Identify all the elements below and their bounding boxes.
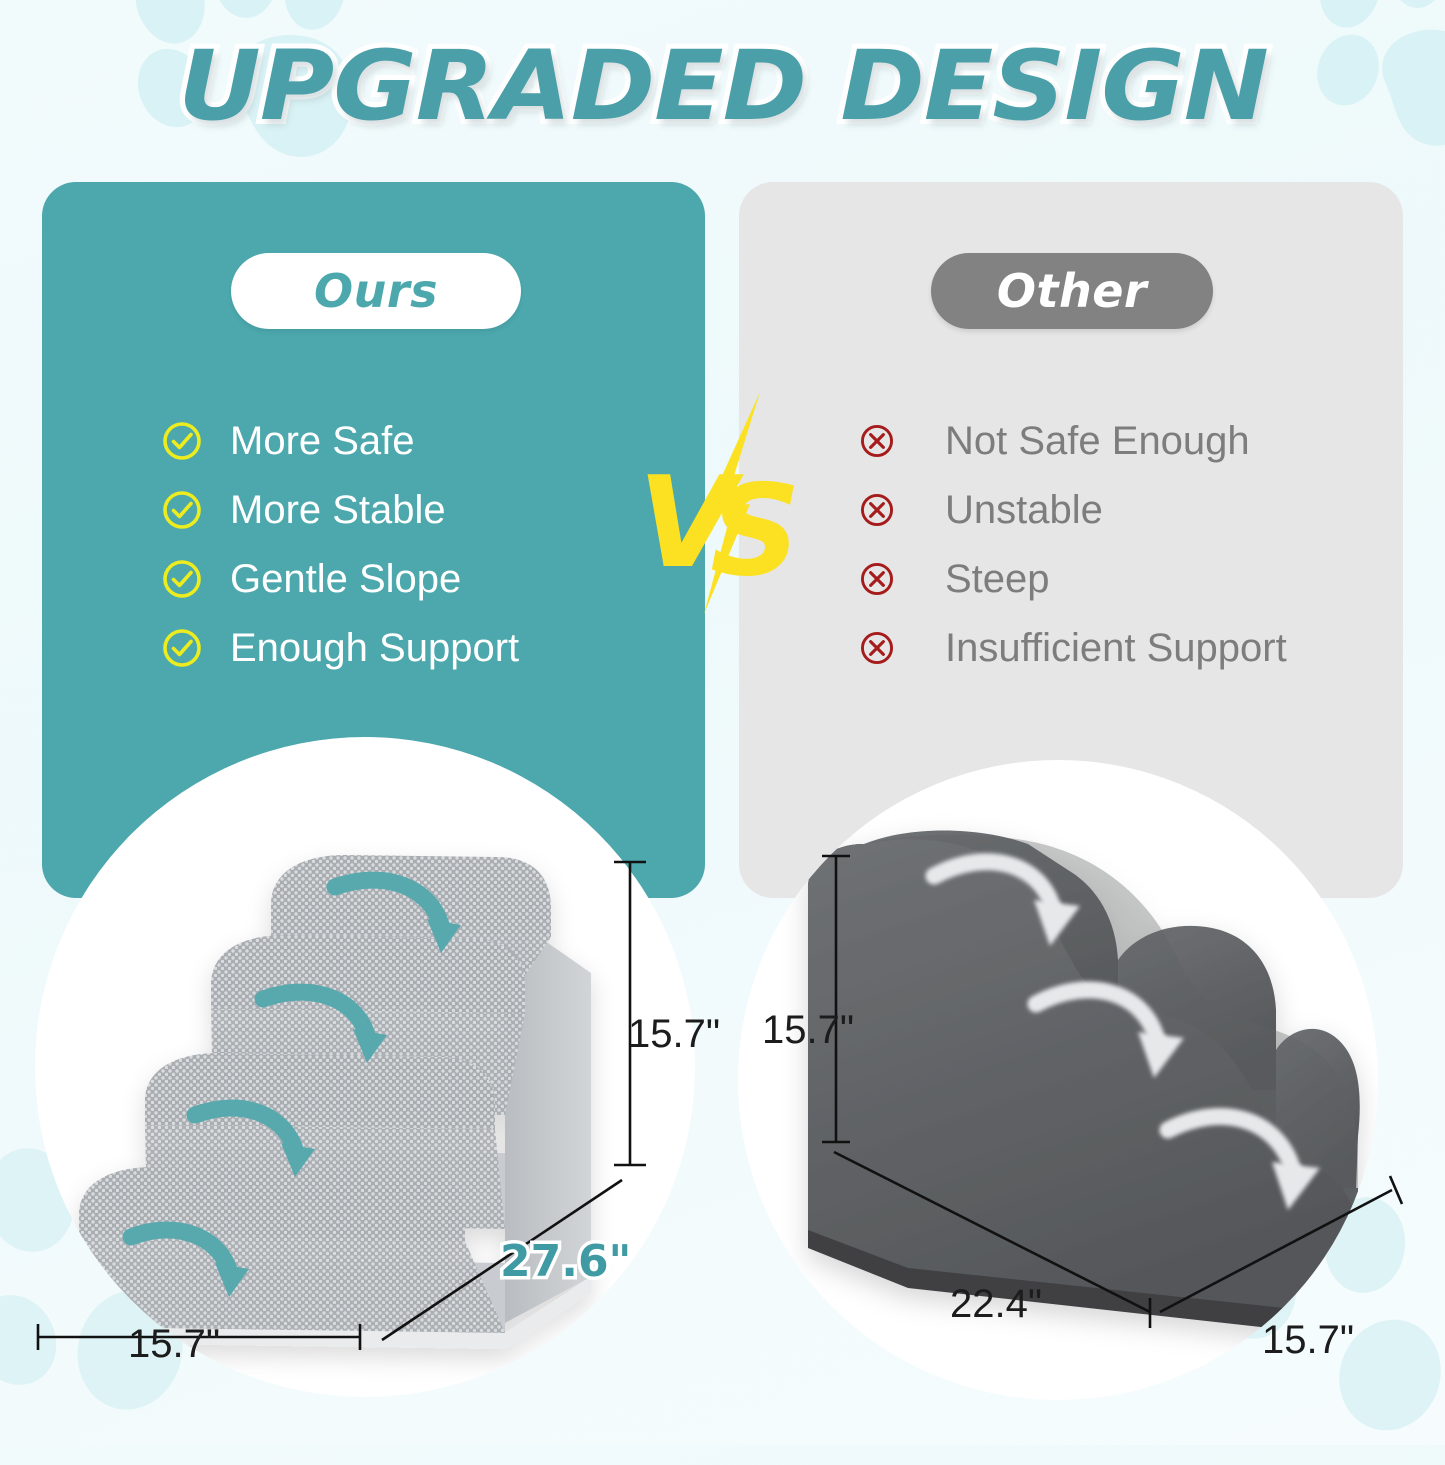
check-circle-icon (160, 626, 204, 670)
feature-label: Gentle Slope (230, 559, 461, 599)
page-title: UPGRADED DESIGN (178, 30, 1268, 142)
feature-label: Unstable (945, 490, 1103, 530)
other-depth-dimension: 22.4" (950, 1282, 1042, 1327)
check-circle-icon (160, 557, 204, 601)
feature-row: Enough Support (160, 613, 519, 682)
x-circle-icon (855, 557, 899, 601)
feature-label: More Safe (230, 421, 415, 461)
check-circle-icon (160, 488, 204, 532)
feature-row: More Stable (160, 475, 519, 544)
vs-graphic: V S (632, 388, 822, 618)
feature-label: Enough Support (230, 628, 519, 668)
ours-depth-dimension: 27.6" (500, 1236, 631, 1287)
feature-row: Steep (855, 544, 1287, 613)
ours-badge-label: Ours (314, 264, 438, 318)
other-badge: Other (931, 253, 1213, 329)
ours-feature-list: More Safe More Stable Gentle Slope Enoug… (160, 406, 519, 682)
feature-row: Gentle Slope (160, 544, 519, 613)
other-height-dimension: 15.7" (762, 1008, 854, 1053)
other-width-dimension: 15.7" (1262, 1318, 1354, 1363)
ours-width-dimension: 15.7" (128, 1322, 220, 1367)
feature-label: More Stable (230, 490, 446, 530)
x-circle-icon (855, 419, 899, 463)
feature-row: More Safe (160, 406, 519, 475)
svg-text:S: S (710, 457, 801, 604)
x-circle-icon (855, 626, 899, 670)
ours-badge: Ours (231, 253, 521, 329)
other-feature-list: Not Safe Enough Unstable Steep Insuffici… (855, 406, 1287, 682)
check-circle-icon (160, 419, 204, 463)
feature-label: Steep (945, 559, 1050, 599)
ours-height-dimension: 15.7" (628, 1012, 720, 1057)
x-circle-icon (855, 488, 899, 532)
ours-dimension-lines (0, 700, 720, 1445)
feature-row: Unstable (855, 475, 1287, 544)
feature-label: Insufficient Support (945, 628, 1287, 668)
other-badge-label: Other (997, 264, 1147, 318)
feature-row: Not Safe Enough (855, 406, 1287, 475)
feature-row: Insufficient Support (855, 613, 1287, 682)
feature-label: Not Safe Enough (945, 421, 1250, 461)
page-title-container: UPGRADED DESIGN (0, 30, 1445, 142)
